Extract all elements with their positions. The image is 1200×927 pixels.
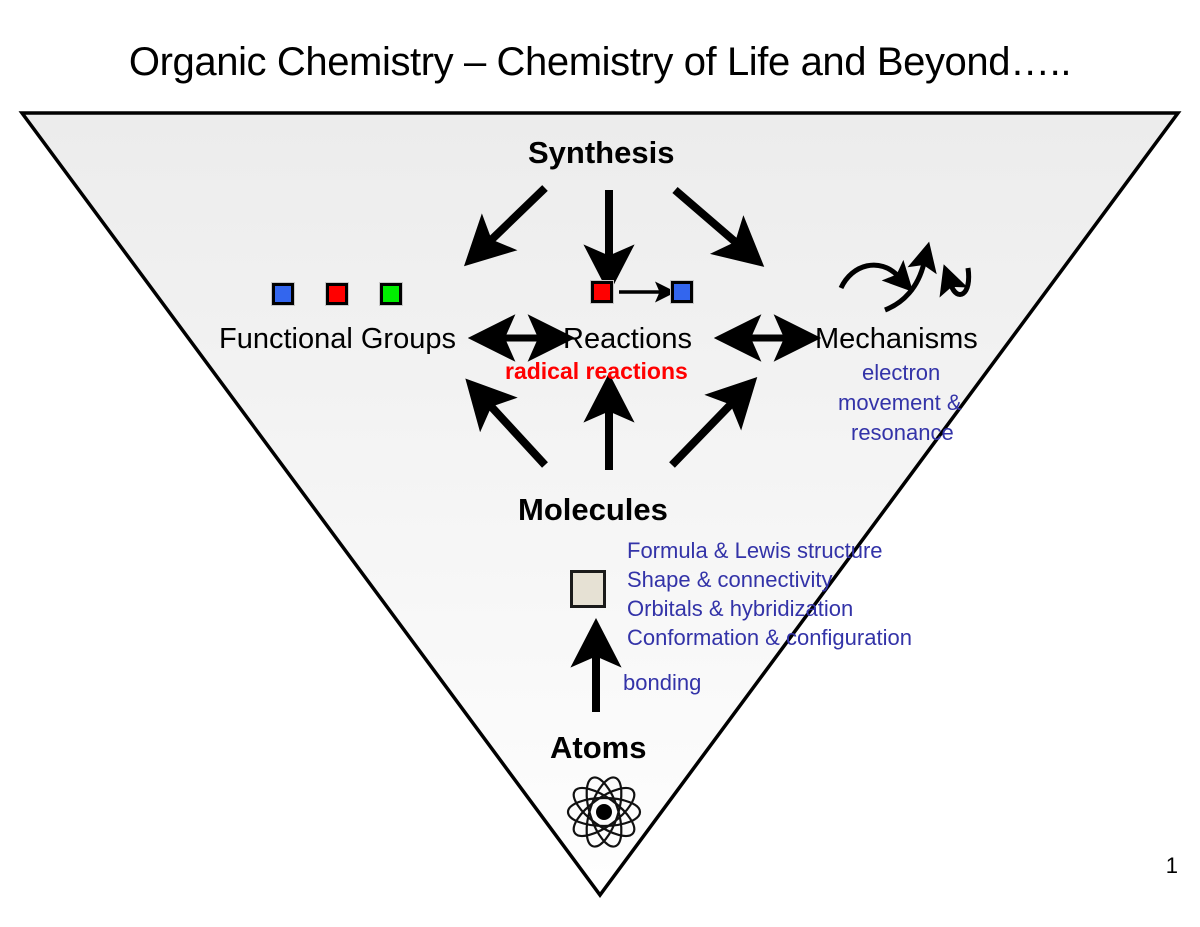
- slide-canvas: Organic Chemistry – Chemistry of Life an…: [0, 0, 1200, 927]
- molecules-sublabel-line-4: Conformation & configuration: [627, 625, 912, 651]
- node-mechanisms-label: Mechanisms: [815, 323, 978, 356]
- page-number: 1: [1166, 853, 1178, 879]
- molecule-swatch: [570, 570, 606, 608]
- blue-swatch: [272, 283, 294, 305]
- node-synthesis-label: Synthesis: [528, 135, 674, 171]
- mechanisms-sublabel-line-2: movement &: [838, 390, 962, 416]
- product-blue-swatch: [671, 281, 693, 303]
- mechanisms-sublabel-line-1: electron: [862, 360, 940, 386]
- molecules-sublabel-line-3: Orbitals & hybridization: [627, 596, 853, 622]
- green-swatch: [380, 283, 402, 305]
- node-molecules-label: Molecules: [518, 492, 668, 528]
- node-reactions-label: Reactions: [563, 323, 692, 356]
- reactions-sublabel: radical reactions: [505, 358, 688, 385]
- node-atoms-label: Atoms: [550, 730, 646, 766]
- red-swatch: [326, 283, 348, 305]
- mechanisms-sublabel-line-3: resonance: [851, 420, 954, 446]
- node-functional-groups-label: Functional Groups: [219, 323, 456, 356]
- molecules-sublabel-line-1: Formula & Lewis structure: [627, 538, 883, 564]
- reactant-red-swatch: [591, 281, 613, 303]
- molecules-sublabel-line-2: Shape & connectivity: [627, 567, 832, 593]
- bonding-label: bonding: [623, 670, 701, 696]
